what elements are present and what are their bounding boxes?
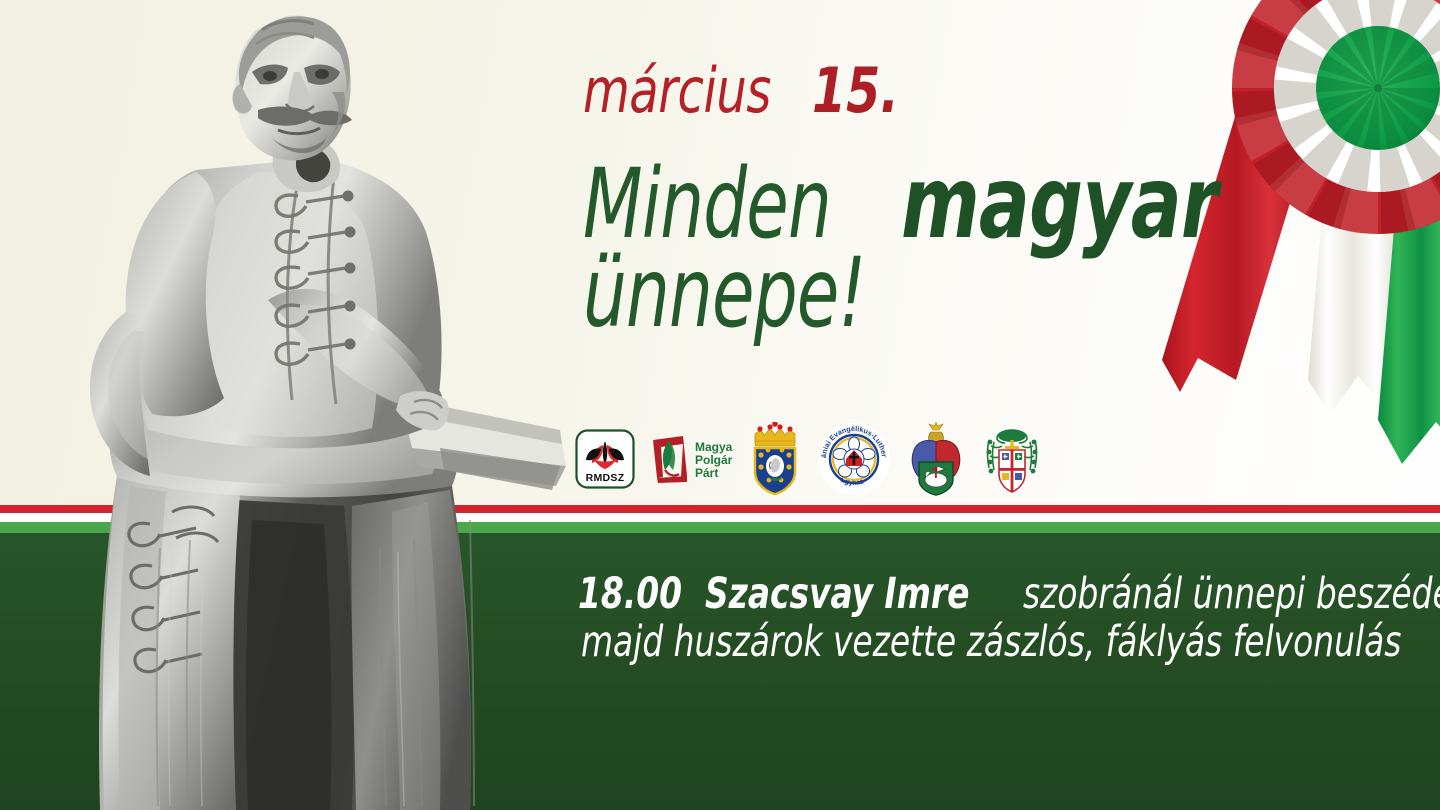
partner-logos-row: RMDSZ Magyar Polgári Párt	[575, 420, 1043, 498]
poster-root: március 15. Minden magyar ünnepe!	[0, 0, 1440, 810]
svg-text:Magyar: Magyar	[695, 440, 733, 454]
date-day: 15.	[812, 60, 899, 122]
romai-katolikus-puspokseg-coat-of-arms[interactable]	[981, 422, 1043, 496]
svg-text:Párt: Párt	[695, 466, 718, 480]
magyar-polgari-part-logo[interactable]: Magyar Polgári Párt	[649, 430, 733, 488]
svg-text:RMDSZ: RMDSZ	[586, 472, 625, 484]
slogan-word-unnepe: ünnepe!	[583, 246, 865, 340]
event-subject: Szacsvay Imre	[705, 570, 969, 618]
reformatus-egyhaz-coat-of-arms[interactable]	[905, 422, 967, 496]
event-time: 18.00	[578, 570, 682, 618]
date-month: március	[583, 60, 771, 122]
szacsvay-imre-statue	[0, 0, 585, 810]
headline-block: március 15. Minden magyar ünnepe!	[583, 60, 1223, 340]
event-details-text: 18.00 Szacsvay Imre szobránál ünnepi bes…	[578, 570, 1408, 666]
nagyvarad-coat-of-arms[interactable]	[747, 422, 803, 496]
event-line-2: majd huszárok vezette zászlós, fáklyás f…	[578, 618, 1408, 666]
event-line-1-rest: szobránál ünnepi beszédek,	[1023, 570, 1440, 618]
svg-text:Polgári: Polgári	[695, 453, 733, 467]
event-line-1: 18.00 Szacsvay Imre szobránál ünnepi bes…	[578, 570, 1408, 618]
date-line: március 15.	[583, 60, 1223, 136]
evangelikus-lutheranus-egyhaz-seal[interactable]: Romániai Evangélikus-Lutheránus Egyház •	[817, 422, 891, 496]
event-line-2-text: majd huszárok vezette zászlós, fáklyás f…	[581, 618, 1401, 666]
slogan-word-magyar: magyar	[901, 154, 1217, 252]
